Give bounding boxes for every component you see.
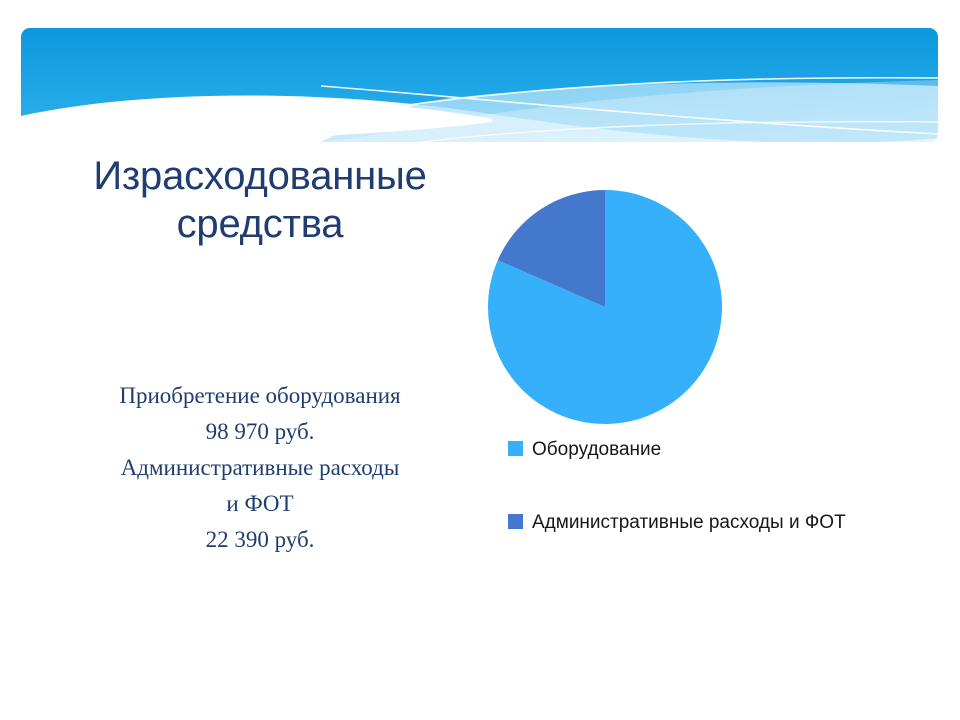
body-line-1: Приобретение оборудования [60,378,460,414]
legend-item-equipment[interactable]: Оборудование [508,437,878,462]
title-line-2: средства [60,200,460,248]
page-title: Израсходованные средства [60,152,460,248]
body-text-block: Приобретение оборудования 98 970 руб. Ад… [60,378,460,558]
legend-item-label: Оборудование [532,437,878,462]
header-wave-banner [21,28,938,142]
slide: Израсходованные средства Приобретение об… [0,0,960,720]
pie-slices [488,190,722,424]
chart-legend: Оборудование Административные расходы и … [508,437,878,583]
pie-chart: Оборудование Административные расходы и … [470,175,890,575]
legend-color-swatch-icon [508,441,523,456]
body-line-3: Административные расходы [60,450,460,486]
legend-item-admin[interactable]: Административные расходы и ФОТ [508,510,878,535]
pie-graphic [488,190,722,424]
title-line-1: Израсходованные [60,152,460,200]
wave-graphic [21,28,938,142]
pie-svg [488,190,722,424]
legend-color-swatch-icon [508,514,523,529]
legend-item-label: Административные расходы и ФОТ [532,510,850,535]
body-line-4: и ФОТ [60,486,460,522]
body-line-5: 22 390 руб. [60,522,460,558]
body-line-2: 98 970 руб. [60,414,460,450]
